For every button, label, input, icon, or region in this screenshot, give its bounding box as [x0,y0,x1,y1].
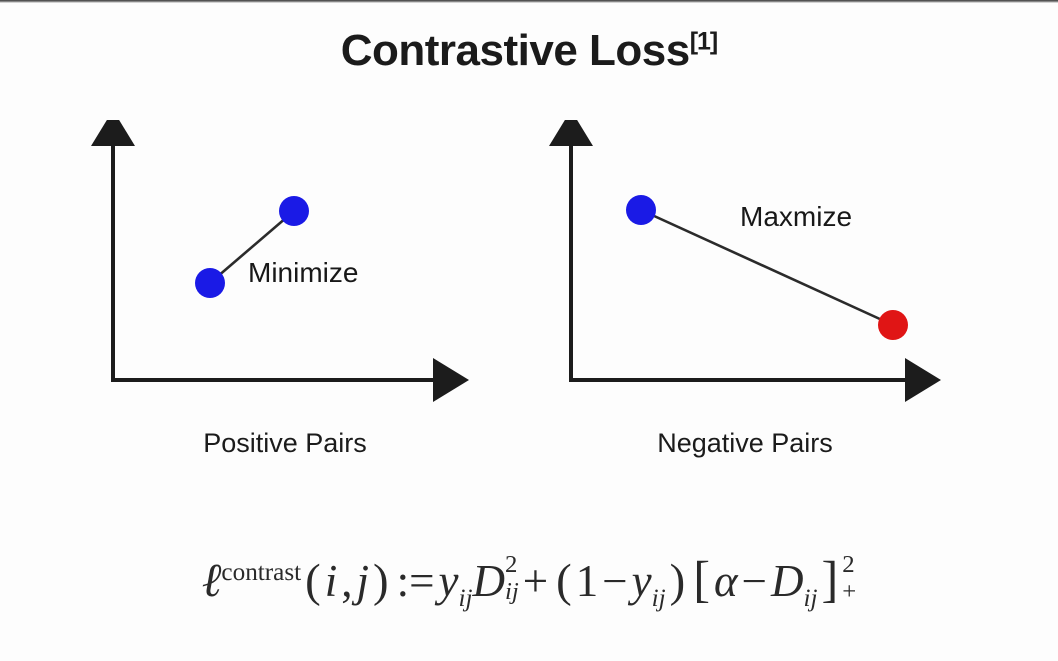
formula-bracket-distance-subscript: ij [804,585,818,612]
formula-term1-distance: D [473,556,506,606]
minimize-annotation: Minimize [248,257,358,289]
formula-term2-open: ( [552,555,576,607]
formula-loss-symbol: ℓ [202,555,222,607]
formula-bracket-indices: 2+ [842,552,856,602]
formula-alpha-margin: α [714,556,738,606]
formula-term2-y: y [632,556,652,606]
formula-term1-distance-subscript: ij [505,580,519,605]
maximize-annotation: Maxmize [740,201,852,233]
negative-point-lower-right [878,310,908,340]
positive-pairs-caption: Positive Pairs [85,428,485,459]
formula-term2-one: 1 [576,556,599,606]
formula-args-open: ( [301,555,325,607]
formula-term1-y: y [439,556,459,606]
negative-point-upper-left [626,195,656,225]
formula-term1-distance-superscript: 2 [505,553,519,578]
formula-arg-comma: , [337,556,356,606]
formula-arg-i: i [325,556,338,606]
formula-args-close: ) [369,555,393,607]
formula-bracket-open: [ [689,551,714,607]
formula-arg-j: j [357,556,370,606]
page-title-citation: [1] [690,27,718,55]
page-title: Contrastive Loss[1] [0,26,1058,76]
positive-point-upper-right [279,196,309,226]
slide-canvas: Contrastive Loss[1] Minimize Positi [0,0,1058,661]
formula-term1-distance-indices: 2ij [505,552,519,602]
negative-pairs-panel: Maxmize [545,120,945,410]
formula-bracket-close: ] [818,551,843,607]
formula-bracket-superscript: 2 [842,553,856,578]
top-edge-band [0,0,1058,3]
negative-pairs-caption: Negative Pairs [545,428,945,459]
formula-bracket-minus: − [738,556,771,606]
formula-assign-operator: := [393,556,439,606]
formula-term2-y-subscript: ij [652,585,666,612]
negative-pairs-plot [545,120,945,410]
formula-term2-close: ) [666,555,690,607]
formula-loss-superscript: contrast [221,559,301,586]
formula-term2-minus: − [598,556,631,606]
formula-bracket-distance: D [771,556,804,606]
positive-pairs-panel: Minimize [85,120,485,410]
formula-term1-y-subscript: ij [459,585,473,612]
positive-point-lower-left [195,268,225,298]
formula-bracket-subscript: + [842,580,856,605]
page-title-text: Contrastive Loss [341,26,690,75]
contrastive-loss-formula: ℓcontrast(i,j):=yijD2ij+(1−yij)[α−Dij]2+ [0,550,1058,608]
formula-plus-operator: + [519,556,552,606]
